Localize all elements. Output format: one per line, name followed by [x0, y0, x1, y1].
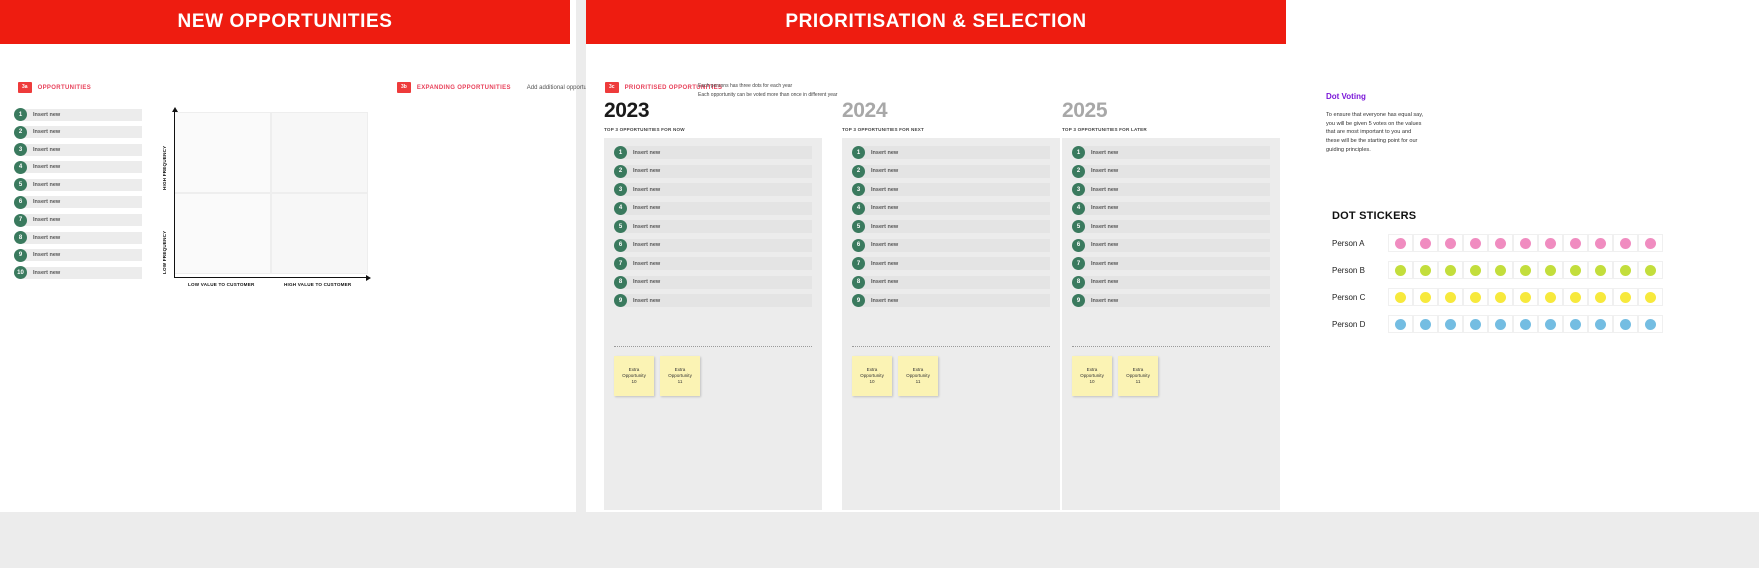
prioritised-number-badge: 9 [614, 294, 627, 307]
prioritised-number-badge: 2 [852, 165, 865, 178]
prioritised-row[interactable]: 6Insert new [852, 239, 1050, 252]
sticky-line-3: 11 [916, 379, 921, 385]
dot-sticker-cell[interactable] [1613, 261, 1638, 279]
dot-icon[interactable] [1395, 238, 1406, 249]
dot-sticker-row: Person B [1332, 261, 1741, 279]
dot-sticker-cell[interactable] [1563, 261, 1588, 279]
dot-sticker-row: Person A [1332, 234, 1741, 252]
prioritised-number-badge: 5 [614, 220, 627, 233]
prioritised-number-badge: 9 [852, 294, 865, 307]
year-divider [614, 346, 812, 347]
matrix-quadrant-low-freq-low-value[interactable] [174, 193, 271, 274]
dot-sticker-cell[interactable] [1438, 315, 1463, 333]
prioritised-input[interactable]: Insert new [622, 257, 812, 270]
prioritised-row[interactable]: 1Insert new [1072, 146, 1270, 159]
opportunity-row[interactable]: 4Insert new [14, 161, 142, 174]
opportunity-input[interactable]: Insert new [23, 144, 142, 156]
prioritised-row[interactable]: 6Insert new [1072, 239, 1270, 252]
prioritised-row[interactable]: 5Insert new [614, 220, 812, 233]
prioritised-number-badge: 1 [852, 146, 865, 159]
dot-sticker-cell[interactable] [1563, 315, 1588, 333]
value-frequency-matrix: HIGH FREQUENCY LOW FREQUENCY LOW VALUE T… [168, 112, 368, 282]
extra-opportunity-sticky[interactable]: ExtraOpportunity11 [898, 356, 938, 396]
dot-sticker-cell[interactable] [1413, 261, 1438, 279]
opportunities-section-header: 3a OPPORTUNITIES [18, 82, 91, 93]
prioritised-input[interactable]: Insert new [860, 257, 1050, 270]
dot-sticker-cell[interactable] [1613, 234, 1638, 252]
prioritised-row[interactable]: 9Insert new [1072, 294, 1270, 307]
prioritised-input[interactable]: Insert new [622, 276, 812, 289]
dot-sticker-cell[interactable] [1438, 288, 1463, 306]
dot-sticker-cell[interactable] [1463, 261, 1488, 279]
prioritised-row[interactable]: 1Insert new [614, 146, 812, 159]
dot-icon[interactable] [1545, 238, 1556, 249]
extra-opportunity-sticky[interactable]: ExtraOpportunity10 [1072, 356, 1112, 396]
prioritised-input[interactable]: Insert new [622, 165, 812, 178]
sticky-line-3: 10 [631, 379, 636, 385]
year-column-2023: 2023TOP 3 OPPORTUNITIES FOR NOW1Insert n… [604, 100, 822, 510]
dot-icon[interactable] [1520, 265, 1531, 276]
dot-icon[interactable] [1495, 319, 1506, 330]
dot-icon[interactable] [1570, 265, 1581, 276]
sticky-line-3: 10 [1089, 379, 1094, 385]
year-divider [852, 346, 1050, 347]
opportunity-input[interactable]: Insert new [23, 196, 142, 208]
prioritised-row[interactable]: 2Insert new [1072, 165, 1270, 178]
opportunity-input[interactable]: Insert new [23, 161, 142, 173]
prioritised-input[interactable]: Insert new [622, 202, 812, 215]
year-heading: 2023 [604, 100, 822, 121]
dot-icon[interactable] [1470, 319, 1481, 330]
dot-stickers-rows: Person APerson BPerson CPerson D [1332, 234, 1741, 333]
opportunity-row[interactable]: 2Insert new [14, 126, 142, 139]
prioritised-row[interactable]: 4Insert new [1072, 202, 1270, 215]
extra-opportunity-stickies: ExtraOpportunity10ExtraOpportunity11 [1072, 356, 1158, 396]
extra-opportunity-sticky[interactable]: ExtraOpportunity10 [852, 356, 892, 396]
prioritised-row[interactable]: 7Insert new [614, 257, 812, 270]
dot-sticker-cell[interactable] [1388, 288, 1413, 306]
prioritised-input[interactable]: Insert new [1080, 276, 1270, 289]
opportunities-list: 1Insert new2Insert new3Insert new4Insert… [14, 108, 142, 284]
prioritised-input[interactable]: Insert new [860, 239, 1050, 252]
dot-icon[interactable] [1595, 292, 1606, 303]
dot-sticker-cell[interactable] [1513, 315, 1538, 333]
dot-icon[interactable] [1545, 265, 1556, 276]
prioritised-row[interactable]: 7Insert new [1072, 257, 1270, 270]
dot-icon[interactable] [1620, 265, 1631, 276]
dot-icon[interactable] [1445, 265, 1456, 276]
opportunity-row[interactable]: 3Insert new [14, 143, 142, 156]
dot-sticker-cell[interactable] [1638, 288, 1663, 306]
dot-sticker-cell[interactable] [1463, 234, 1488, 252]
dot-icon[interactable] [1620, 238, 1631, 249]
opportunity-row[interactable]: 5Insert new [14, 178, 142, 191]
prioritised-row[interactable]: 8Insert new [1072, 276, 1270, 289]
dot-icon[interactable] [1445, 292, 1456, 303]
dot-sticker-row: Person C [1332, 288, 1741, 306]
dot-icon[interactable] [1445, 238, 1456, 249]
dot-icon[interactable] [1645, 292, 1656, 303]
dot-icon[interactable] [1545, 319, 1556, 330]
prioritised-input[interactable]: Insert new [622, 220, 812, 233]
extra-opportunity-stickies: ExtraOpportunity10ExtraOpportunity11 [614, 356, 700, 396]
dot-sticker-cell[interactable] [1538, 315, 1563, 333]
prioritised-number-badge: 7 [852, 257, 865, 270]
dot-sticker-cell[interactable] [1488, 315, 1513, 333]
dot-sticker-cell[interactable] [1638, 234, 1663, 252]
dot-sticker-person-label: Person C [1332, 293, 1388, 302]
prioritised-input[interactable]: Insert new [622, 146, 812, 159]
matrix-quadrants [174, 112, 368, 274]
dot-sticker-person-label: Person B [1332, 266, 1388, 275]
year-box: 1Insert new2Insert new3Insert new4Insert… [842, 138, 1060, 510]
dot-sticker-cell[interactable] [1488, 234, 1513, 252]
opportunity-input[interactable]: Insert new [23, 249, 142, 261]
year-subtitle: TOP 3 OPPORTUNITIES FOR NEXT [842, 127, 1060, 132]
dot-icon[interactable] [1520, 292, 1531, 303]
prioritised-row[interactable]: 9Insert new [614, 294, 812, 307]
dot-icon[interactable] [1645, 238, 1656, 249]
dot-sticker-cell[interactable] [1388, 234, 1413, 252]
prioritised-row[interactable]: 6Insert new [614, 239, 812, 252]
step-chip-3b: 3b [397, 82, 411, 93]
dot-icon[interactable] [1470, 292, 1481, 303]
prioritised-input[interactable]: Insert new [1080, 183, 1270, 196]
year-box: 1Insert new2Insert new3Insert new4Insert… [1062, 138, 1280, 510]
dot-sticker-dots [1388, 315, 1663, 333]
prioritised-number-badge: 8 [614, 276, 627, 289]
dot-icon[interactable] [1470, 265, 1481, 276]
prioritised-row[interactable]: 5Insert new [852, 220, 1050, 233]
prioritised-row[interactable]: 8Insert new [614, 276, 812, 289]
prioritised-number-badge: 1 [614, 146, 627, 159]
year-box: 1Insert new2Insert new3Insert new4Insert… [604, 138, 822, 510]
prioritised-number-badge: 5 [1072, 220, 1085, 233]
dot-icon[interactable] [1395, 292, 1406, 303]
prioritised-row[interactable]: 3Insert new [852, 183, 1050, 196]
dot-icon[interactable] [1495, 265, 1506, 276]
prioritised-input[interactable]: Insert new [1080, 165, 1270, 178]
matrix-label-low-frequency: LOW FREQUENCY [162, 231, 167, 274]
prioritised-number-badge: 5 [852, 220, 865, 233]
sticky-line-3: 11 [678, 379, 683, 385]
dot-sticker-cell[interactable] [1463, 315, 1488, 333]
opportunity-input[interactable]: Insert new [23, 126, 142, 138]
matrix-quadrant-high-freq-high-value[interactable] [271, 112, 368, 193]
dot-sticker-cell[interactable] [1563, 288, 1588, 306]
prioritised-input[interactable]: Insert new [860, 294, 1050, 307]
prioritised-number-badge: 7 [614, 257, 627, 270]
dot-icon[interactable] [1645, 265, 1656, 276]
prioritised-number-badge: 2 [614, 165, 627, 178]
dot-icon[interactable] [1395, 265, 1406, 276]
prioritised-input[interactable]: Insert new [860, 165, 1050, 178]
year-heading: 2025 [1062, 100, 1280, 121]
dot-sticker-cell[interactable] [1413, 315, 1438, 333]
opportunities-section-title: OPPORTUNITIES [38, 85, 92, 91]
matrix-label-high-value: HIGH VALUE TO CUSTOMER [284, 282, 351, 287]
matrix-y-axis-arrow-icon [172, 107, 178, 112]
prioritised-input[interactable]: Insert new [1080, 294, 1270, 307]
dot-sticker-cell[interactable] [1513, 288, 1538, 306]
dot-icon[interactable] [1595, 238, 1606, 249]
opportunity-row[interactable]: 1Insert new [14, 108, 142, 121]
prioritised-number-badge: 6 [614, 239, 627, 252]
dot-sticker-dots [1388, 261, 1663, 279]
prioritised-number-badge: 4 [614, 202, 627, 215]
opportunity-row[interactable]: 8Insert new [14, 231, 142, 244]
prioritised-number-badge: 2 [1072, 165, 1085, 178]
opportunity-number-badge: 6 [14, 196, 27, 209]
dot-sticker-cell[interactable] [1388, 315, 1413, 333]
prioritised-number-badge: 1 [1072, 146, 1085, 159]
workshop-board: NEW OPPORTUNITIES 3a OPPORTUNITIES 3b EX… [0, 0, 1759, 568]
year-divider [1072, 346, 1270, 347]
prioritised-row[interactable]: 2Insert new [852, 165, 1050, 178]
dot-stickers-title: DOT STICKERS [1332, 210, 1741, 222]
dot-icon[interactable] [1570, 292, 1581, 303]
dot-sticker-cell[interactable] [1563, 234, 1588, 252]
prioritised-input[interactable]: Insert new [860, 276, 1050, 289]
dot-sticker-cell[interactable] [1513, 261, 1538, 279]
prioritised-row[interactable]: 3Insert new [614, 183, 812, 196]
matrix-x-axis-arrow-icon [366, 275, 371, 281]
prioritised-number-badge: 8 [1072, 276, 1085, 289]
prioritised-input[interactable]: Insert new [860, 202, 1050, 215]
prioritisation-banner: PRIORITISATION & SELECTION [586, 0, 1286, 44]
prioritisation-title: PRIORITISATION & SELECTION [785, 11, 1086, 33]
prioritised-input[interactable]: Insert new [1080, 220, 1270, 233]
matrix-label-high-frequency: HIGH FREQUENCY [162, 146, 167, 190]
dot-icon[interactable] [1570, 319, 1581, 330]
year-heading: 2024 [842, 100, 1060, 121]
opportunity-row[interactable]: 10Insert new [14, 266, 142, 279]
matrix-quadrant-high-freq-low-value[interactable] [174, 112, 271, 193]
matrix-quadrant-low-freq-high-value[interactable] [271, 193, 368, 274]
prioritised-input[interactable]: Insert new [860, 146, 1050, 159]
matrix-label-low-value: LOW VALUE TO CUSTOMER [188, 282, 254, 287]
prioritised-row[interactable]: 5Insert new [1072, 220, 1270, 233]
opportunity-number-badge: 7 [14, 214, 27, 227]
extra-opportunity-stickies: ExtraOpportunity10ExtraOpportunity11 [852, 356, 938, 396]
dot-sticker-cell[interactable] [1438, 234, 1463, 252]
new-opportunities-banner: NEW OPPORTUNITIES [0, 0, 570, 44]
extra-opportunity-sticky[interactable]: ExtraOpportunity11 [660, 356, 700, 396]
dot-sticker-dots [1388, 234, 1663, 252]
dot-icon[interactable] [1420, 319, 1431, 330]
dot-icon[interactable] [1520, 319, 1531, 330]
dot-voting-title: Dot Voting [1326, 92, 1426, 101]
dot-sticker-cell[interactable] [1538, 288, 1563, 306]
new-opportunities-title: NEW OPPORTUNITIES [178, 11, 393, 33]
dot-sticker-cell[interactable] [1538, 261, 1563, 279]
prioritised-input[interactable]: Insert new [622, 294, 812, 307]
dot-sticker-cell[interactable] [1438, 261, 1463, 279]
prioritised-input[interactable]: Insert new [622, 239, 812, 252]
dot-sticker-cell[interactable] [1613, 315, 1638, 333]
opportunity-number-badge: 1 [14, 108, 27, 121]
opportunity-number-badge: 4 [14, 161, 27, 174]
prioritised-input[interactable]: Insert new [1080, 146, 1270, 159]
dot-icon[interactable] [1595, 265, 1606, 276]
dot-icon[interactable] [1545, 292, 1556, 303]
dot-sticker-cell[interactable] [1588, 234, 1613, 252]
dot-icon[interactable] [1445, 319, 1456, 330]
matrix-y-axis [174, 110, 175, 278]
dot-sticker-cell[interactable] [1588, 315, 1613, 333]
opportunity-input[interactable]: Insert new [23, 232, 142, 244]
prioritised-row[interactable]: 2Insert new [614, 165, 812, 178]
dot-icon[interactable] [1470, 238, 1481, 249]
expanding-opportunities-section-title: EXPANDING OPPORTUNITIES [417, 85, 511, 91]
prioritised-row[interactable]: 7Insert new [852, 257, 1050, 270]
year-subtitle: TOP 3 OPPORTUNITIES FOR NOW [604, 127, 822, 132]
prioritised-number-badge: 4 [1072, 202, 1085, 215]
opportunity-input[interactable]: Insert new [23, 267, 142, 279]
step-chip-3a: 3a [18, 82, 32, 93]
opportunity-number-badge: 2 [14, 126, 27, 139]
dot-sticker-cell[interactable] [1588, 288, 1613, 306]
dot-sticker-cell[interactable] [1488, 288, 1513, 306]
dot-sticker-cell[interactable] [1463, 288, 1488, 306]
prioritised-number-badge: 3 [1072, 183, 1085, 196]
dot-sticker-dots [1388, 288, 1663, 306]
dot-sticker-cell[interactable] [1388, 261, 1413, 279]
opportunity-input[interactable]: Insert new [23, 214, 142, 226]
prioritised-input[interactable]: Insert new [1080, 202, 1270, 215]
year-column-2024: 2024TOP 3 OPPORTUNITIES FOR NEXT1Insert … [842, 100, 1060, 510]
dot-sticker-cell[interactable] [1613, 288, 1638, 306]
dot-icon[interactable] [1520, 238, 1531, 249]
opportunity-number-badge: 9 [14, 249, 27, 262]
matrix-x-axis [174, 277, 368, 278]
dot-sticker-cell[interactable] [1638, 261, 1663, 279]
sticky-line-3: 10 [869, 379, 874, 385]
dot-icon[interactable] [1570, 238, 1581, 249]
dot-sticker-cell[interactable] [1413, 288, 1438, 306]
dot-icon[interactable] [1420, 265, 1431, 276]
extra-opportunity-sticky[interactable]: ExtraOpportunity11 [1118, 356, 1158, 396]
prioritised-row[interactable]: 9Insert new [852, 294, 1050, 307]
prioritised-row[interactable]: 3Insert new [1072, 183, 1270, 196]
dot-icon[interactable] [1645, 319, 1656, 330]
dot-voting-body: To ensure that everyone has equal say, y… [1326, 111, 1426, 154]
dot-sticker-cell[interactable] [1488, 261, 1513, 279]
opportunity-row[interactable]: 6Insert new [14, 196, 142, 209]
prioritised-number-badge: 9 [1072, 294, 1085, 307]
prioritised-input[interactable]: Insert new [860, 183, 1050, 196]
prioritised-input[interactable]: Insert new [860, 220, 1050, 233]
opportunity-input[interactable]: Insert new [23, 179, 142, 191]
prioritised-input[interactable]: Insert new [1080, 257, 1270, 270]
prioritised-number-badge: 7 [1072, 257, 1085, 270]
prioritised-input[interactable]: Insert new [622, 183, 812, 196]
prioritised-input[interactable]: Insert new [1080, 239, 1270, 252]
prioritised-number-badge: 4 [852, 202, 865, 215]
prioritised-number-badge: 3 [852, 183, 865, 196]
opportunity-input[interactable]: Insert new [23, 109, 142, 121]
prioritised-row[interactable]: 8Insert new [852, 276, 1050, 289]
dot-sticker-cell[interactable] [1588, 261, 1613, 279]
prioritised-number-badge: 8 [852, 276, 865, 289]
prioritised-note-line-1: Each persons has three dots for each yea… [698, 83, 792, 89]
opportunity-row[interactable]: 7Insert new [14, 214, 142, 227]
prioritised-number-badge: 3 [614, 183, 627, 196]
opportunity-row[interactable]: 9Insert new [14, 249, 142, 262]
extra-opportunity-sticky[interactable]: ExtraOpportunity10 [614, 356, 654, 396]
dot-sticker-cell[interactable] [1638, 315, 1663, 333]
expanding-opportunities-section-header: 3b EXPANDING OPPORTUNITIES Add additiona… [397, 82, 601, 93]
dot-icon[interactable] [1620, 292, 1631, 303]
prioritised-row[interactable]: 4Insert new [852, 202, 1050, 215]
dot-sticker-row: Person D [1332, 315, 1741, 333]
prioritised-row[interactable]: 4Insert new [614, 202, 812, 215]
dot-icon[interactable] [1620, 319, 1631, 330]
year-subtitle: TOP 3 OPPORTUNITIES FOR LATER [1062, 127, 1280, 132]
dot-icon[interactable] [1420, 238, 1431, 249]
dot-sticker-cell[interactable] [1413, 234, 1438, 252]
dot-sticker-person-label: Person D [1332, 320, 1388, 329]
dot-icon[interactable] [1595, 319, 1606, 330]
step-chip-3c: 3c [605, 82, 619, 93]
prioritised-row[interactable]: 1Insert new [852, 146, 1050, 159]
dot-voting-card: Dot Voting To ensure that everyone has e… [1314, 80, 1438, 186]
sticky-line-3: 11 [1136, 379, 1141, 385]
dot-icon[interactable] [1395, 319, 1406, 330]
dot-icon[interactable] [1420, 292, 1431, 303]
year-column-2025: 2025TOP 3 OPPORTUNITIES FOR LATER1Insert… [1062, 100, 1280, 510]
prioritised-note-line-2: Each opportunity can be voted more than … [698, 92, 837, 98]
dot-sticker-cell[interactable] [1538, 234, 1563, 252]
dot-stickers-card: DOT STICKERS Person APerson BPerson CPer… [1314, 196, 1759, 342]
prioritised-number-badge: 6 [852, 239, 865, 252]
dot-icon[interactable] [1495, 292, 1506, 303]
dot-sticker-cell[interactable] [1513, 234, 1538, 252]
dot-sticker-person-label: Person A [1332, 239, 1388, 248]
prioritised-number-badge: 6 [1072, 239, 1085, 252]
dot-icon[interactable] [1495, 238, 1506, 249]
